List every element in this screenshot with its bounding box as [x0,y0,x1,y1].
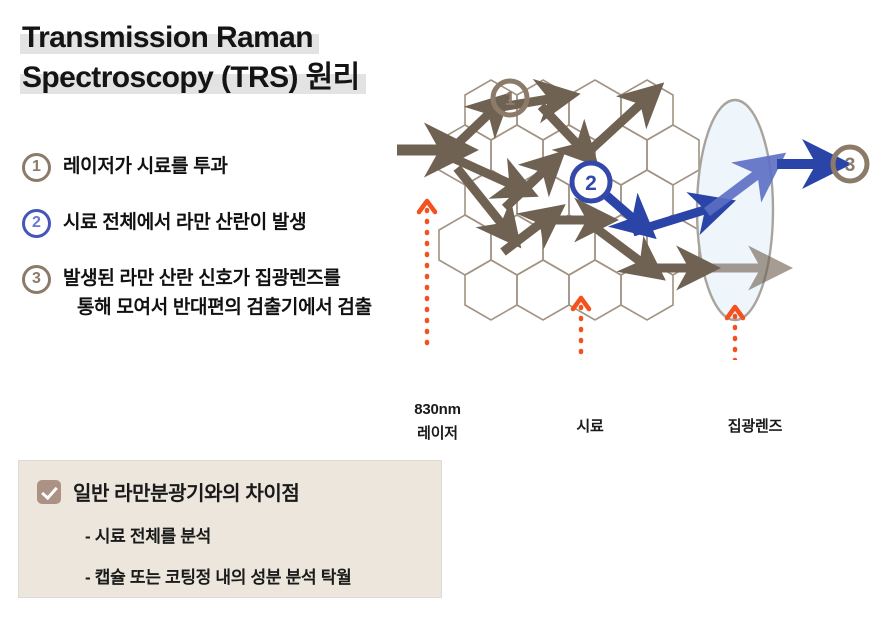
step-text-2: 시료 전체에서 라만 산란이 발생 [63,212,306,233]
note-list-item: - 시료 전체를 분석 [19,522,441,547]
step-number-badge-3: 3 [22,265,51,294]
diagram-badge-1: 1 [493,81,527,115]
step-number-badge-2: 2 [22,209,51,238]
step-item-2: 2 시료 전체에서 라만 산란이 발생 [22,208,452,238]
diagram-badge-2: 2 [572,163,610,201]
diagram-badge-3: 3 [833,147,867,181]
callout-sample-line1: 시료 [545,415,635,439]
step-label-2: 시료 전체에서 라만 산란이 발생 [63,208,306,237]
trs-principle-diagram: 1 2 3 [395,60,889,360]
step-item-3: 3 발생된 라만 산란 신호가 집광렌즈를 통해 모여서 반대편의 검출기에서 … [22,264,452,322]
callout-label-sample: 시료 [545,415,635,439]
title-text-2: Spectroscopy (TRS) 원리 [22,61,360,94]
callout-lens-line1: 집광렌즈 [705,415,805,439]
callout-laser-line2: 레이저 [390,422,485,446]
step-label-3: 발생된 라만 산란 신호가 집광렌즈를 통해 모여서 반대편의 검출기에서 검출 [63,264,372,322]
note-title: 일반 라만분광기와의 차이점 [73,477,299,506]
svg-text:2: 2 [585,172,597,195]
callout-label-laser: 830nm 레이저 [390,398,485,446]
note-header: 일반 라만분광기와의 차이점 [19,461,441,506]
pointer-sample [573,298,589,360]
step-label-1: 레이저가 시료를 투과 [63,152,228,181]
svg-text:1: 1 [505,89,516,110]
check-icon [37,480,61,504]
title-text-1: Transmission Raman [22,21,313,54]
step-text-1: 레이저가 시료를 투과 [63,156,228,177]
steps-list: 1 레이저가 시료를 투과 2 시료 전체에서 라만 산란이 발생 3 발생된 … [22,152,452,348]
callout-label-lens: 집광렌즈 [705,415,805,439]
title-line-2: Spectroscopy (TRS) 원리 [22,58,360,98]
step-text-3: 발생된 라만 산란 신호가 집광렌즈를 [63,268,341,289]
step-text-3-line2: 통해 모여서 반대편의 검출기에서 검출 [63,293,372,322]
page-title: Transmission Raman Spectroscopy (TRS) 원리 [22,18,442,98]
pointer-lens [727,307,743,360]
pointer-laser [419,201,435,352]
step-item-1: 1 레이저가 시료를 투과 [22,152,452,182]
callout-laser-line1: 830nm [390,398,485,422]
step-number-badge-1: 1 [22,153,51,182]
difference-note-box: 일반 라만분광기와의 차이점 - 시료 전체를 분석 - 캡슐 또는 코팅정 내… [18,460,442,598]
title-line-1: Transmission Raman [22,18,313,58]
svg-text:3: 3 [845,155,856,176]
note-list-item: - 캡슐 또는 코팅정 내의 성분 분석 탁월 [19,563,441,588]
